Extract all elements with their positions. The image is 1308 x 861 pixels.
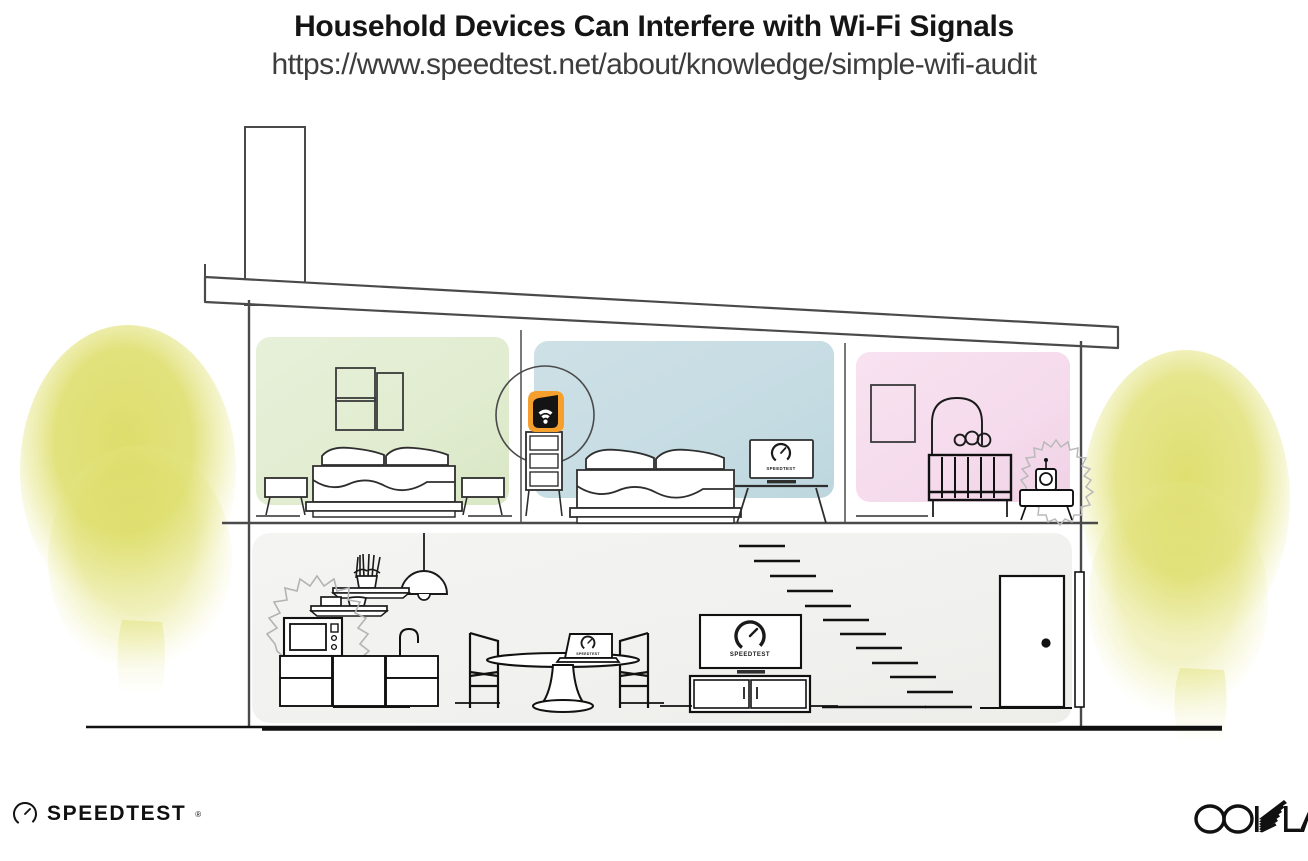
shelf-unit bbox=[526, 432, 562, 516]
bed-left bbox=[306, 448, 462, 517]
ookla-wordmark-icon: ® bbox=[1192, 795, 1308, 841]
tree-right bbox=[1082, 350, 1290, 740]
speedtest-registered-mark: ® bbox=[195, 810, 201, 819]
room-nursery bbox=[856, 352, 1093, 525]
infographic-canvas: Household Devices Can Interfere with Wi-… bbox=[0, 0, 1308, 861]
house-illustration: SPEEDTEST bbox=[0, 0, 1308, 861]
speedtest-gauge-icon bbox=[12, 801, 38, 827]
room-main-bedroom: SPEEDTEST bbox=[496, 341, 834, 523]
room-left-bedroom bbox=[256, 337, 512, 517]
footer: SPEEDTEST ® bbox=[0, 781, 1308, 861]
door-knob[interactable] bbox=[1041, 638, 1050, 647]
ookla-logo: ® bbox=[1192, 795, 1308, 846]
monitor-brand-label: SPEEDTEST bbox=[766, 466, 795, 471]
tv-brand-label: SPEEDTEST bbox=[730, 652, 770, 658]
speedtest-logo: SPEEDTEST ® bbox=[12, 801, 201, 827]
bed-main bbox=[570, 450, 741, 523]
roof bbox=[205, 264, 1118, 348]
tree-left bbox=[20, 325, 236, 690]
tv-stand bbox=[737, 670, 765, 674]
monitor-stand bbox=[767, 480, 796, 483]
speedtest-wordmark: SPEEDTEST bbox=[47, 802, 186, 826]
front-door[interactable] bbox=[1000, 576, 1064, 707]
monitor bbox=[750, 440, 813, 478]
nightstand-left bbox=[265, 478, 307, 515]
room-ground-floor: SPEEDTEST SPEEDTEST bbox=[252, 533, 1084, 723]
laptop-brand-label: SPEEDTEST bbox=[576, 652, 600, 656]
wifi-router[interactable] bbox=[528, 391, 564, 432]
nightstand-right bbox=[462, 478, 504, 515]
chimney bbox=[245, 127, 305, 305]
window-strip bbox=[1075, 572, 1084, 707]
kitchen-cabinets bbox=[280, 656, 438, 706]
tv-console bbox=[690, 676, 810, 712]
television: SPEEDTEST bbox=[700, 615, 801, 674]
nursery-side-table bbox=[1020, 490, 1073, 506]
